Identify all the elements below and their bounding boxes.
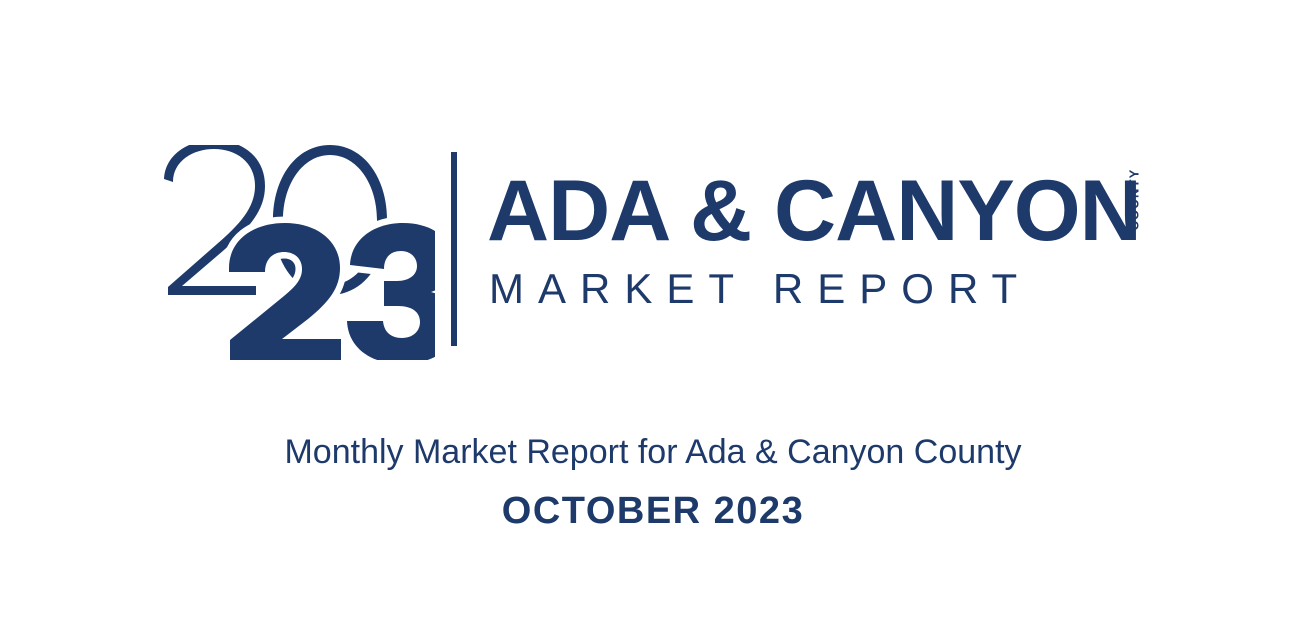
cover-page: ADA & CANYON COUNTY MARKET REPORT Monthl…	[0, 0, 1306, 626]
year-mark-2023	[160, 145, 435, 360]
report-scope-text: Monthly Market Report for Ada & Canyon C…	[0, 430, 1306, 475]
brand-title: ADA & CANYON	[487, 168, 1141, 254]
brand-qualifier-label: COUNTY	[1127, 168, 1142, 230]
year-solid-three	[347, 223, 435, 360]
caption-block: Monthly Market Report for Ada & Canyon C…	[0, 430, 1306, 533]
report-period-text: OCTOBER 2023	[0, 491, 1306, 533]
logo-text-block: ADA & CANYON COUNTY MARKET REPORT	[487, 130, 1167, 365]
brand-logo-lockup: ADA & CANYON COUNTY MARKET REPORT	[0, 130, 1306, 365]
brand-qualifier: COUNTY	[1121, 168, 1183, 238]
logo-divider-rule	[451, 152, 457, 346]
brand-subtitle: MARKET REPORT	[489, 268, 1031, 310]
